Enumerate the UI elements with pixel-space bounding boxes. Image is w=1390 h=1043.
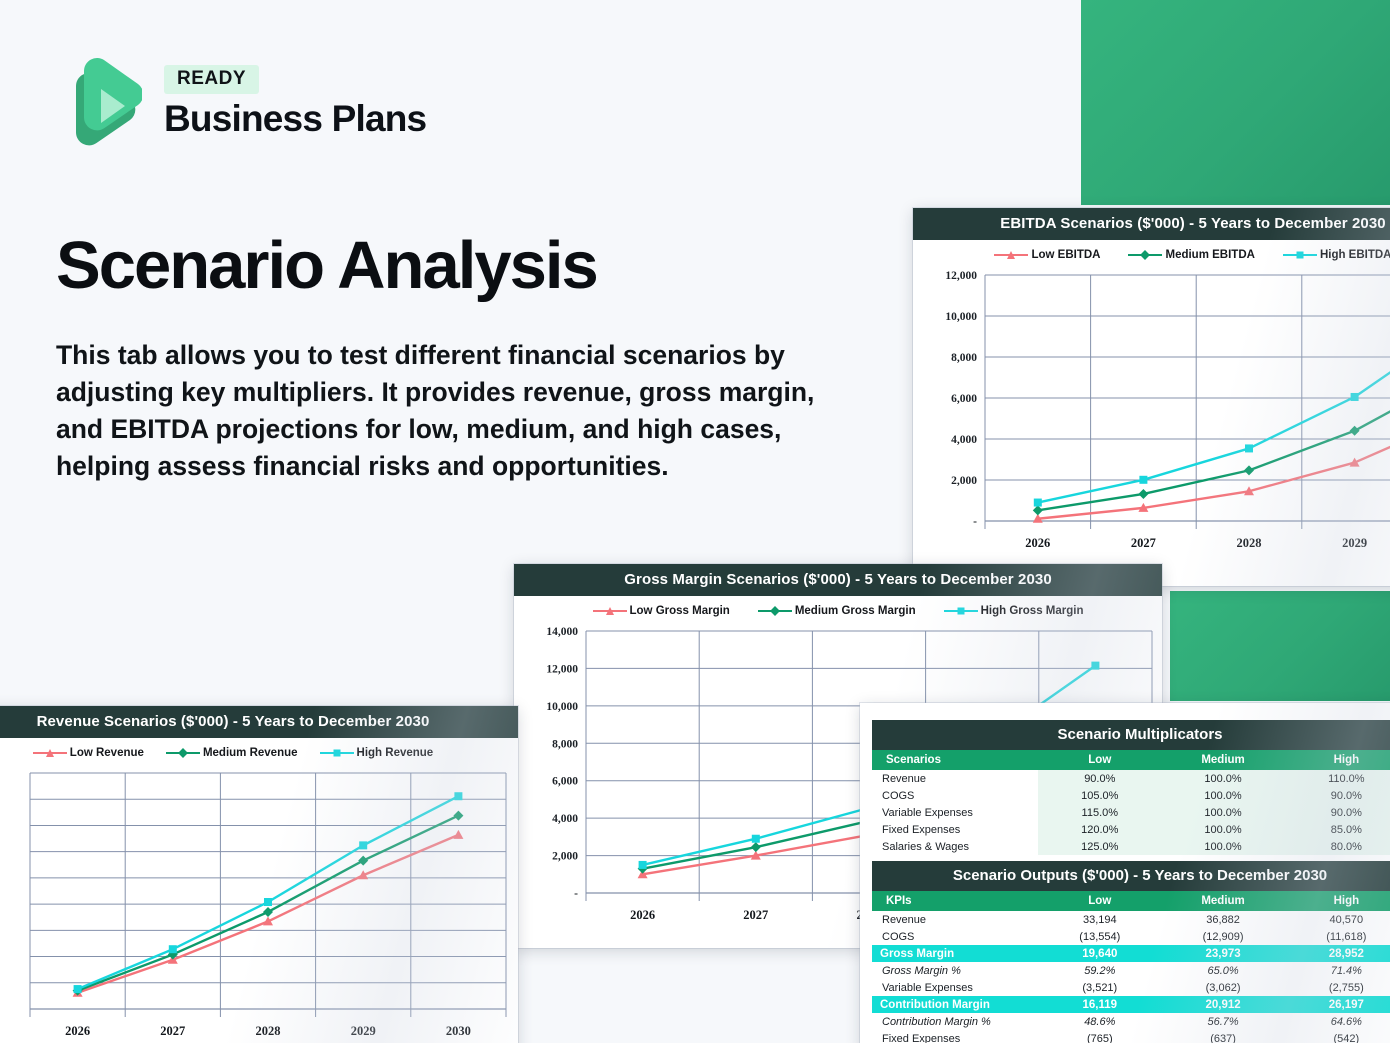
legend-item-high-ebitda: High EBITDA xyxy=(1283,249,1390,261)
cell-high: 26,197 xyxy=(1285,996,1390,1013)
svg-text:12,000: 12,000 xyxy=(945,270,977,282)
svg-text:2026: 2026 xyxy=(65,1024,90,1038)
hero-section: READY Business Plans Scenario Analysis T… xyxy=(56,56,856,485)
svg-text:2026: 2026 xyxy=(1025,536,1050,550)
svg-text:4,000: 4,000 xyxy=(951,434,977,446)
svg-text:2027: 2027 xyxy=(1131,536,1156,550)
cell-medium: 100.0% xyxy=(1161,770,1284,787)
legend-item-medium-gross-margin: Medium Gross Margin xyxy=(758,605,916,617)
table-row: Gross Margin19,64023,97328,952 xyxy=(872,945,1390,962)
table-row: COGS105.0%100.0%90.0% xyxy=(872,787,1390,804)
svg-text:10,000: 10,000 xyxy=(546,701,578,713)
svg-text:2029: 2029 xyxy=(351,1024,376,1038)
cell-low: 105.0% xyxy=(1038,787,1161,804)
cell-medium: 20,912 xyxy=(1161,996,1284,1013)
svg-text:12,000: 12,000 xyxy=(546,663,578,675)
cell-medium: 100.0% xyxy=(1161,821,1284,838)
col-header-low: Low xyxy=(1038,891,1161,911)
row-label: Contribution Margin xyxy=(872,996,1038,1013)
decorative-green-block-top xyxy=(1081,0,1390,205)
cell-high: 71.4% xyxy=(1285,962,1390,979)
legend-marker-triangle-icon xyxy=(33,752,67,755)
legend-item-low-gross-margin: Low Gross Margin xyxy=(593,605,730,617)
svg-text:6,000: 6,000 xyxy=(951,393,977,405)
cell-high: (2,755) xyxy=(1285,979,1390,996)
cell-medium: 56.7% xyxy=(1161,1013,1284,1030)
svg-text:2026: 2026 xyxy=(630,908,655,922)
svg-text:2029: 2029 xyxy=(1342,536,1367,550)
legend-marker-triangle-icon xyxy=(593,610,627,613)
cell-medium: 23,973 xyxy=(1161,945,1284,962)
legend-marker-diamond-icon xyxy=(758,610,792,613)
table-header-row: Scenarios Low Medium High xyxy=(872,750,1390,770)
brand-wordmark: READY Business Plans xyxy=(164,65,426,139)
brand-logo-row: READY Business Plans xyxy=(56,56,856,148)
ready-badge: READY xyxy=(164,65,259,94)
plot-area-ebitda: -2,0004,0006,0008,00010,00012,0002026202… xyxy=(913,267,1390,567)
legend-marker-square-icon xyxy=(1283,254,1317,257)
legend-marker-diamond-icon xyxy=(1128,254,1162,257)
col-header-high: High xyxy=(1285,750,1390,770)
svg-text:2027: 2027 xyxy=(160,1024,185,1038)
table-row: Gross Margin %59.2%65.0%71.4% xyxy=(872,962,1390,979)
table-row: Variable Expenses115.0%100.0%90.0% xyxy=(872,804,1390,821)
cell-medium: (3,062) xyxy=(1161,979,1284,996)
table-scenario-multiplicators: Scenarios Low Medium High Revenue90.0%10… xyxy=(872,750,1390,855)
table-header-row: KPIs Low Medium High xyxy=(872,891,1390,911)
cell-medium: (12,909) xyxy=(1161,928,1284,945)
cell-high: 28,952 xyxy=(1285,945,1390,962)
row-label: COGS xyxy=(872,928,1038,945)
chart-title-gross-margin: Gross Margin Scenarios ($'000) - 5 Years… xyxy=(514,564,1162,596)
cell-low: (3,521) xyxy=(1038,979,1161,996)
table-title-multiplicators: Scenario Multiplicators xyxy=(872,720,1390,750)
cell-low: 90.0% xyxy=(1038,770,1161,787)
row-label: Gross Margin xyxy=(872,945,1038,962)
row-label: Salaries & Wages xyxy=(872,838,1038,855)
row-label: Revenue xyxy=(872,770,1038,787)
chart-title-revenue: Revenue Scenarios ($'000) - 5 Years to D… xyxy=(0,706,518,738)
table-title-outputs: Scenario Outputs ($'000) - 5 Years to De… xyxy=(872,861,1390,891)
legend-label: Medium Gross Margin xyxy=(795,605,916,617)
row-label: Contribution Margin % xyxy=(872,1013,1038,1030)
plot-area-revenue: 20262027202820292030 xyxy=(0,765,518,1043)
legend-marker-square-icon xyxy=(320,752,354,755)
page-description: This tab allows you to test different fi… xyxy=(56,337,846,485)
svg-text:2,000: 2,000 xyxy=(552,851,578,863)
table-row: Fixed Expenses(765)(637)(542) xyxy=(872,1030,1390,1043)
chart-legend-ebitda: Low EBITDA Medium EBITDA High EBITDA xyxy=(913,240,1390,267)
brand-name: Business Plans xyxy=(164,100,426,139)
legend-item-low-ebitda: Low EBITDA xyxy=(994,249,1100,261)
table-row: Variable Expenses(3,521)(3,062)(2,755) xyxy=(872,979,1390,996)
svg-text:2,000: 2,000 xyxy=(951,475,977,487)
legend-marker-triangle-icon xyxy=(994,254,1028,257)
row-label: Gross Margin % xyxy=(872,962,1038,979)
table-row: Salaries & Wages125.0%100.0%80.0% xyxy=(872,838,1390,855)
cell-medium: 65.0% xyxy=(1161,962,1284,979)
cell-low: 59.2% xyxy=(1038,962,1161,979)
cell-high: (542) xyxy=(1285,1030,1390,1043)
legend-item-medium-revenue: Medium Revenue xyxy=(166,747,298,759)
legend-item-medium-ebitda: Medium EBITDA xyxy=(1128,249,1254,261)
row-label: Variable Expenses xyxy=(872,979,1038,996)
legend-label: Medium EBITDA xyxy=(1165,249,1254,261)
legend-item-low-revenue: Low Revenue xyxy=(33,747,144,759)
cell-low: 19,640 xyxy=(1038,945,1161,962)
svg-text:10,000: 10,000 xyxy=(945,311,977,323)
cell-low: 115.0% xyxy=(1038,804,1161,821)
row-label: Fixed Expenses xyxy=(872,821,1038,838)
cell-high: (11,618) xyxy=(1285,928,1390,945)
row-label: COGS xyxy=(872,787,1038,804)
legend-label: High EBITDA xyxy=(1320,249,1390,261)
decorative-green-block-middle xyxy=(1170,591,1390,701)
table-row: Contribution Margin16,11920,91226,197 xyxy=(872,996,1390,1013)
cell-medium: 100.0% xyxy=(1161,787,1284,804)
cell-high: 40,570 xyxy=(1285,911,1390,928)
legend-label: High Revenue xyxy=(357,747,434,759)
table-row: COGS(13,554)(12,909)(11,618) xyxy=(872,928,1390,945)
chart-title-ebitda: EBITDA Scenarios ($'000) - 5 Years to De… xyxy=(913,208,1390,240)
cell-low: 120.0% xyxy=(1038,821,1161,838)
cell-high: 90.0% xyxy=(1285,787,1390,804)
col-header-kpis: KPIs xyxy=(872,891,1038,911)
svg-text:8,000: 8,000 xyxy=(552,738,578,750)
table-scenario-outputs: KPIs Low Medium High Revenue33,19436,882… xyxy=(872,891,1390,1043)
svg-text:14,000: 14,000 xyxy=(546,626,578,638)
row-label: Variable Expenses xyxy=(872,804,1038,821)
svg-text:2028: 2028 xyxy=(256,1024,281,1038)
cell-medium: (637) xyxy=(1161,1030,1284,1043)
col-header-medium: Medium xyxy=(1161,891,1284,911)
cell-high: 110.0% xyxy=(1285,770,1390,787)
scenario-tables-card: Scenario Multiplicators Scenarios Low Me… xyxy=(860,703,1390,1043)
svg-text:-: - xyxy=(574,888,578,900)
svg-text:8,000: 8,000 xyxy=(951,352,977,364)
cell-high: 64.6% xyxy=(1285,1013,1390,1030)
chart-card-ebitda: EBITDA Scenarios ($'000) - 5 Years to De… xyxy=(913,208,1390,586)
cell-medium: 36,882 xyxy=(1161,911,1284,928)
legend-marker-diamond-icon xyxy=(166,752,200,755)
cell-low: 125.0% xyxy=(1038,838,1161,855)
table-row: Revenue33,19436,88240,570 xyxy=(872,911,1390,928)
chart-legend-gross-margin: Low Gross Margin Medium Gross Margin Hig… xyxy=(514,596,1162,623)
svg-text:2030: 2030 xyxy=(446,1024,471,1038)
svg-text:2028: 2028 xyxy=(1237,536,1262,550)
legend-label: Low Revenue xyxy=(70,747,144,759)
table-row: Contribution Margin %48.6%56.7%64.6% xyxy=(872,1013,1390,1030)
cell-low: 48.6% xyxy=(1038,1013,1161,1030)
col-header-medium: Medium xyxy=(1161,750,1284,770)
chart-card-revenue: Revenue Scenarios ($'000) - 5 Years to D… xyxy=(0,706,518,1043)
col-header-scenarios: Scenarios xyxy=(872,750,1038,770)
legend-label: Low EBITDA xyxy=(1031,249,1100,261)
play-triangle-logo-icon xyxy=(56,56,142,148)
row-label: Revenue xyxy=(872,911,1038,928)
cell-high: 80.0% xyxy=(1285,838,1390,855)
row-label: Fixed Expenses xyxy=(872,1030,1038,1043)
cell-high: 90.0% xyxy=(1285,804,1390,821)
legend-label: Medium Revenue xyxy=(203,747,298,759)
legend-item-high-gross-margin: High Gross Margin xyxy=(944,605,1084,617)
cell-high: 85.0% xyxy=(1285,821,1390,838)
cell-low: (13,554) xyxy=(1038,928,1161,945)
svg-text:2027: 2027 xyxy=(743,908,768,922)
cell-medium: 100.0% xyxy=(1161,804,1284,821)
svg-text:-: - xyxy=(973,516,977,528)
cell-low: 16,119 xyxy=(1038,996,1161,1013)
table-row: Fixed Expenses120.0%100.0%85.0% xyxy=(872,821,1390,838)
chart-legend-revenue: Low Revenue Medium Revenue High Revenue xyxy=(0,738,518,765)
cell-low: (765) xyxy=(1038,1030,1161,1043)
legend-marker-square-icon xyxy=(944,610,978,613)
legend-item-high-revenue: High Revenue xyxy=(320,747,434,759)
legend-label: Low Gross Margin xyxy=(630,605,730,617)
legend-label: High Gross Margin xyxy=(981,605,1084,617)
cell-low: 33,194 xyxy=(1038,911,1161,928)
page-title: Scenario Analysis xyxy=(56,232,856,299)
cell-medium: 100.0% xyxy=(1161,838,1284,855)
table-row: Revenue90.0%100.0%110.0% xyxy=(872,770,1390,787)
col-header-low: Low xyxy=(1038,750,1161,770)
svg-text:4,000: 4,000 xyxy=(552,813,578,825)
svg-text:6,000: 6,000 xyxy=(552,776,578,788)
col-header-high: High xyxy=(1285,891,1390,911)
